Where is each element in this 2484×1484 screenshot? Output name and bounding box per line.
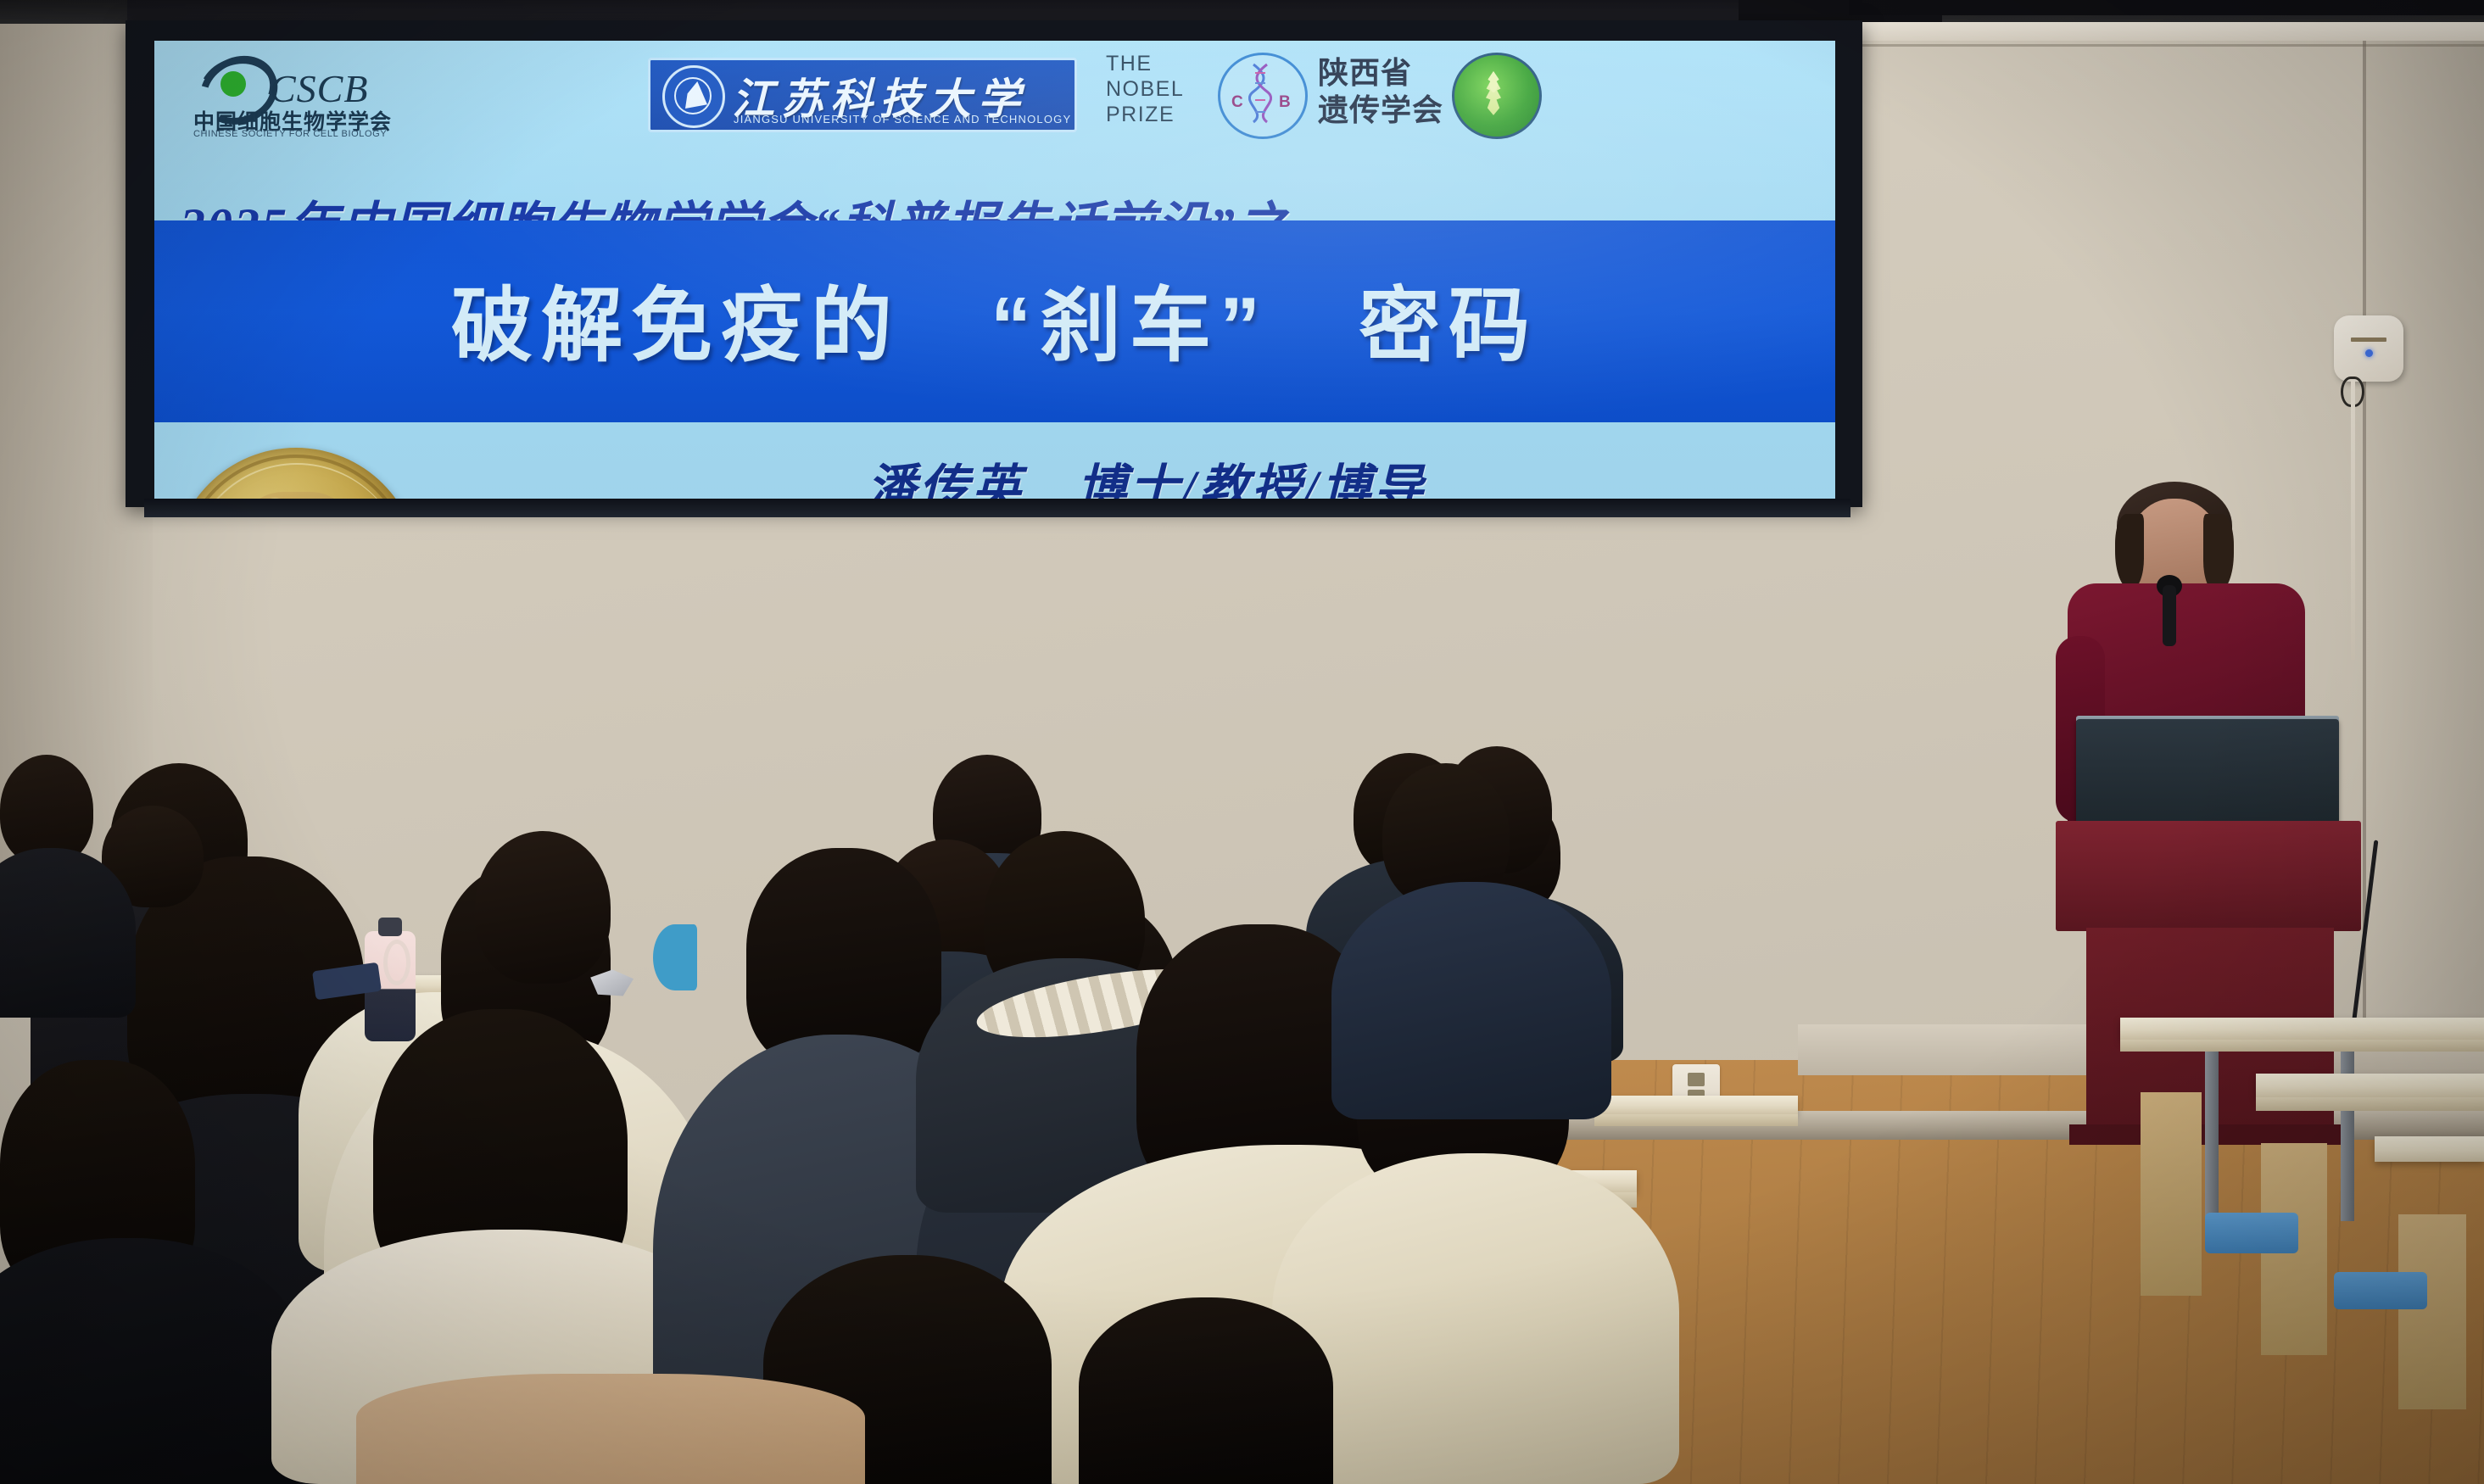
just-english-name: JIANGSU UNIVERSITY OF SCIENCE AND TECHNO… <box>734 113 1071 126</box>
desk-mid-edge <box>2256 1097 2484 1111</box>
slide-speaker-block: 潘传英 博士/教授/博导 中国细胞生物学学会 主办 2025年11月20日 <box>528 448 1766 499</box>
logo-shaanxi-cell-biology: C B <box>1214 49 1309 137</box>
desk-modesty-panel <box>2398 1214 2466 1409</box>
audience-head <box>475 831 611 984</box>
microphone <box>2163 585 2176 646</box>
wifi-status-led <box>2365 349 2373 357</box>
sxg-line-1: 陕西省 <box>1318 54 1445 92</box>
podium-top <box>2056 821 2361 931</box>
slide-main-title: 破解免疫的 “刹车” 密码 <box>154 259 1835 377</box>
nobel-line-3: PRIZE <box>1106 102 1206 127</box>
logo-shaanxi-genetics: 陕西省 遗传学会 <box>1318 54 1445 132</box>
chair <box>2205 1213 2298 1253</box>
desk-center-right-edge <box>1594 1114 1798 1126</box>
sxcb-letter-c: C <box>1231 93 1243 112</box>
slide-title-band: 破解免疫的 “刹车” 密码 <box>154 220 1835 422</box>
logo-cscb: CSCB 中国细胞生物学学会 CHINESE SOCIETY FOR CELL … <box>188 51 443 139</box>
ceiling-dark-corner <box>1849 0 2484 15</box>
audience-head <box>1079 1297 1333 1484</box>
desk-modesty-panel <box>2141 1092 2202 1296</box>
headband <box>653 924 697 990</box>
desk-front-right <box>2375 1136 2484 1162</box>
audience-coat <box>356 1374 865 1484</box>
sxcb-letter-b: B <box>1279 93 1291 112</box>
logo-jiangsu-university: 江苏科技大学 JIANGSU UNIVERSITY OF SCIENCE AND… <box>648 58 1077 132</box>
just-sail-icon <box>685 81 707 109</box>
desk-mid <box>2256 1074 2484 1097</box>
cscb-english-name: CHINESE SOCIETY FOR CELL BIOLOGY <box>193 129 387 139</box>
speaker-name: 潘传英 博士/教授/博导 <box>528 448 1766 499</box>
lecture-hall-photo: CSCB 中国细胞生物学学会 CHINESE SOCIETY FOR CELL … <box>0 0 2484 1484</box>
cscb-nucleus-dot <box>220 71 246 97</box>
nobel-line-1: THE <box>1106 51 1206 76</box>
desk-center-right <box>1594 1096 1798 1114</box>
bottle-cap <box>378 918 402 936</box>
nobel-line-2: NOBEL <box>1106 76 1206 102</box>
logo-northwest-afu <box>1450 51 1542 136</box>
audience-coat <box>1272 1153 1679 1484</box>
presenter-at-podium <box>2035 475 2392 1068</box>
outlet-port-upper <box>1688 1073 1705 1086</box>
audience-shoulders <box>1331 882 1611 1119</box>
presenter-hair-left <box>2115 514 2144 589</box>
presenter-hair-right <box>2203 514 2234 592</box>
dna-helix-icon <box>1248 63 1272 124</box>
logo-nobel-prize: THE NOBEL PRIZE <box>1106 51 1206 136</box>
nobel-medal-image <box>173 448 419 499</box>
just-seal-icon <box>662 65 725 128</box>
slide-logo-row: CSCB 中国细胞生物学学会 CHINESE SOCIETY FOR CELL … <box>154 41 1835 141</box>
chair <box>2334 1272 2427 1309</box>
screen-bottom-trim <box>144 499 1850 517</box>
wifi-access-point <box>2334 315 2403 382</box>
desk-back-edge <box>2120 1040 2484 1052</box>
laptop <box>2076 719 2339 828</box>
wall-seam <box>1764 44 2484 47</box>
bottle-strap <box>383 940 410 985</box>
desk-back <box>2120 1018 2484 1040</box>
projection-screen: CSCB 中国细胞生物学学会 CHINESE SOCIETY FOR CELL … <box>154 41 1835 499</box>
sxg-line-2: 遗传学会 <box>1318 92 1445 129</box>
wifi-brand-label <box>2351 338 2386 342</box>
